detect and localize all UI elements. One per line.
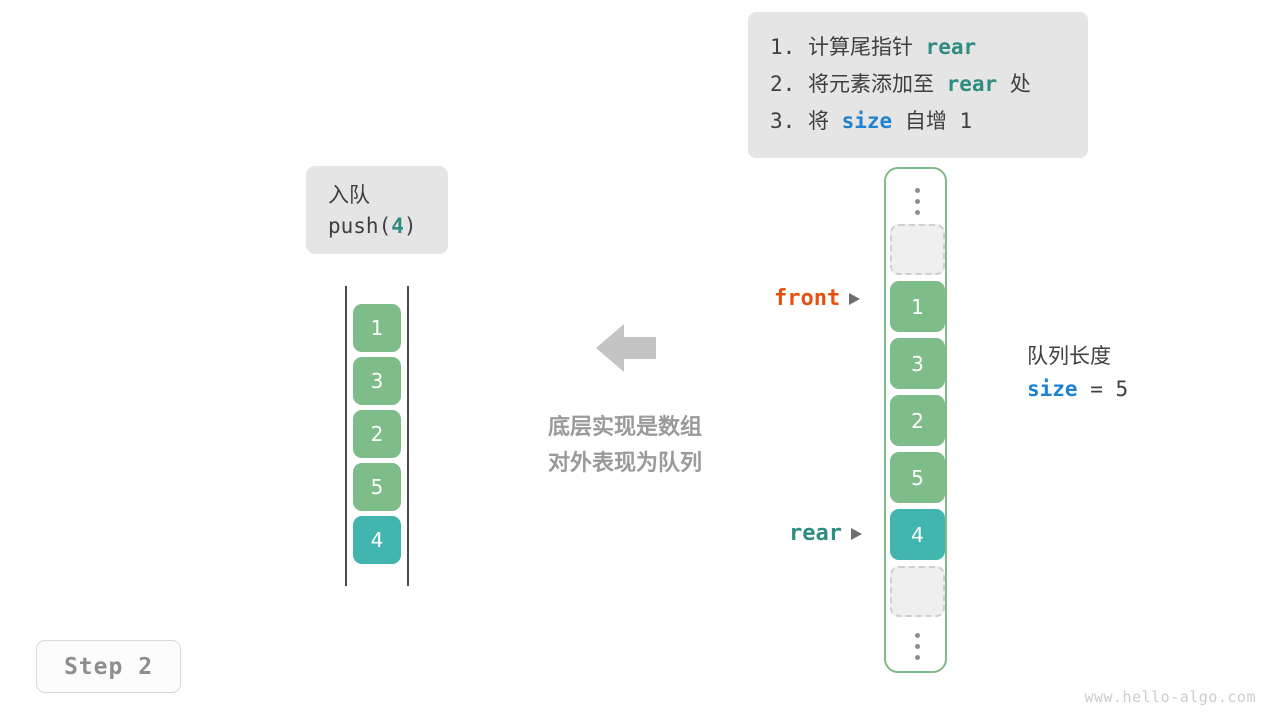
watermark: www.hello-algo.com bbox=[1084, 688, 1256, 706]
operation-call: push(4) bbox=[328, 210, 448, 242]
instruction-1-number: 1. bbox=[770, 35, 795, 59]
diagram-canvas: 1. 计算尾指针 rear 2. 将元素添加至 rear 处 3. 将 size… bbox=[0, 0, 1280, 720]
instruction-line-2: 2. 将元素添加至 rear 处 bbox=[770, 66, 1066, 103]
queue-cell: 1 bbox=[353, 304, 401, 352]
array-slot-empty bbox=[890, 224, 945, 275]
array-slot: 1 bbox=[890, 281, 945, 332]
caption-line-2: 对外表现为队列 bbox=[500, 446, 750, 482]
array-slot-list: 13254 bbox=[890, 178, 945, 669]
instruction-3-number: 3. bbox=[770, 109, 795, 133]
vertical-ellipsis-icon-bottom bbox=[890, 623, 945, 669]
array-container: 13254 bbox=[884, 167, 947, 673]
queue-cell: 3 bbox=[353, 357, 401, 405]
instruction-1-keyword: rear bbox=[926, 35, 977, 59]
pointer-front-label: front bbox=[774, 286, 840, 311]
queue-rail-right bbox=[407, 286, 409, 586]
diagram-caption: 底层实现是数组 对外表现为队列 bbox=[500, 410, 750, 482]
step-badge-label: Step 2 bbox=[64, 654, 153, 680]
queue-cell-list: 13254 bbox=[353, 304, 401, 569]
arrow-left-icon bbox=[596, 320, 656, 376]
queue-cell: 5 bbox=[353, 463, 401, 511]
size-variable: size bbox=[1027, 377, 1078, 401]
size-annotation-title: 队列长度 bbox=[1027, 340, 1128, 372]
instruction-line-1: 1. 计算尾指针 rear bbox=[770, 29, 1066, 66]
queue-cell: 2 bbox=[353, 410, 401, 458]
instructions-panel: 1. 计算尾指针 rear 2. 将元素添加至 rear 处 3. 将 size… bbox=[748, 12, 1088, 158]
vertical-ellipsis-icon-top bbox=[890, 178, 945, 224]
array-slot: 5 bbox=[890, 452, 945, 503]
operation-call-prefix: push( bbox=[328, 214, 391, 238]
instruction-1-text: 计算尾指针 bbox=[808, 35, 926, 59]
caption-line-1: 底层实现是数组 bbox=[500, 410, 750, 446]
array-slot: 2 bbox=[890, 395, 945, 446]
operation-title: 入队 bbox=[328, 180, 448, 210]
instruction-line-3: 3. 将 size 自增 1 bbox=[770, 103, 1066, 140]
step-badge: Step 2 bbox=[36, 640, 181, 693]
pointer-rear: rear bbox=[789, 521, 862, 546]
pointer-rear-label: rear bbox=[789, 521, 842, 546]
instruction-3-text: 将 bbox=[808, 109, 842, 133]
pointer-front-arrow-icon bbox=[849, 293, 860, 305]
size-annotation-expression: size = 5 bbox=[1027, 372, 1128, 406]
size-value: = 5 bbox=[1078, 377, 1129, 401]
queue-cell: 4 bbox=[353, 516, 401, 564]
pointer-front: front bbox=[774, 286, 860, 311]
instruction-2-number: 2. bbox=[770, 72, 795, 96]
array-slot-empty bbox=[890, 566, 945, 617]
size-annotation: 队列长度 size = 5 bbox=[1027, 340, 1128, 406]
instruction-2-keyword: rear bbox=[947, 72, 998, 96]
logical-queue: 13254 bbox=[345, 286, 409, 586]
operation-call-value: 4 bbox=[391, 214, 404, 238]
instruction-2-text: 将元素添加至 bbox=[808, 72, 947, 96]
instruction-2-suffix: 处 bbox=[997, 72, 1031, 96]
pointer-rear-arrow-icon bbox=[851, 528, 862, 540]
instruction-3-keyword: size bbox=[842, 109, 893, 133]
queue-rail-left bbox=[345, 286, 347, 586]
array-slot: 3 bbox=[890, 338, 945, 389]
array-slot: 4 bbox=[890, 509, 945, 560]
operation-callout: 入队 push(4) bbox=[306, 166, 448, 254]
operation-call-suffix: ) bbox=[404, 214, 417, 238]
instruction-3-suffix: 自增 1 bbox=[892, 109, 972, 133]
